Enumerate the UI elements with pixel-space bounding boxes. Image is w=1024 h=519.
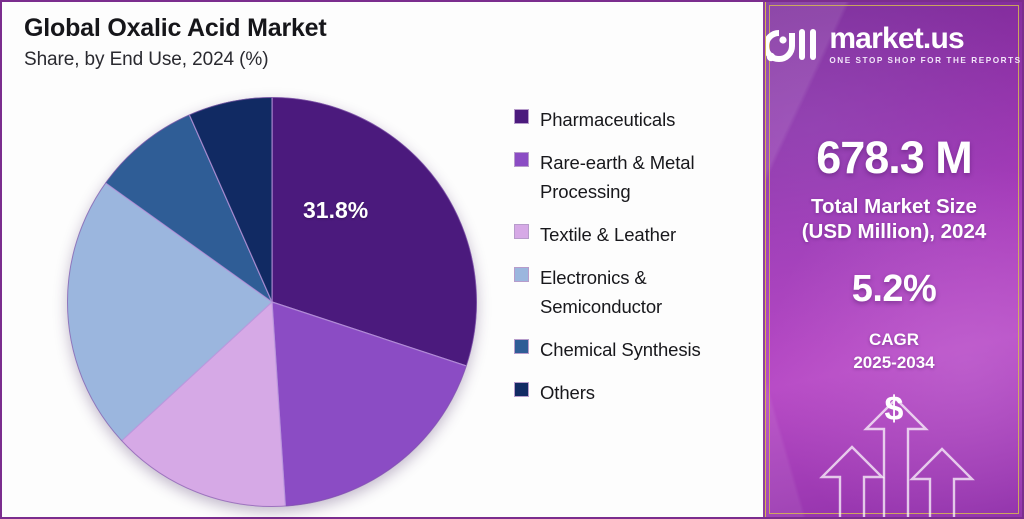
market-size-value: 678.3 M xyxy=(766,132,1022,184)
legend-item[interactable]: Pharmaceuticals xyxy=(514,105,752,134)
chart-panel: Global Oxalic Acid Market Share, by End … xyxy=(2,2,765,517)
legend-item-label: Electronics & Semiconductor xyxy=(540,263,752,321)
legend-item-label: Textile & Leather xyxy=(540,220,676,249)
legend-swatch-icon xyxy=(514,267,529,282)
legend-item-label: Rare-earth & Metal Processing xyxy=(540,148,752,206)
legend-item-label: Chemical Synthesis xyxy=(540,335,701,364)
market-us-logo-icon xyxy=(766,26,822,64)
brand-tagline: ONE STOP SHOP FOR THE REPORTS xyxy=(829,56,1021,65)
cagr-caption-line1: CAGR xyxy=(766,328,1022,351)
brand-logo-text: market.us ONE STOP SHOP FOR THE REPORTS xyxy=(829,24,1021,65)
brand-logo: market.us ONE STOP SHOP FOR THE REPORTS xyxy=(766,24,1022,65)
pie-svg xyxy=(67,97,477,507)
market-size-caption-line1: Total Market Size xyxy=(766,194,1022,219)
legend-swatch-icon xyxy=(514,382,529,397)
market-size-caption-line2: (USD Million), 2024 xyxy=(766,219,1022,244)
pie-chart: 31.8% xyxy=(67,97,477,507)
legend-item-label: Others xyxy=(540,378,595,407)
legend-item[interactable]: Electronics & Semiconductor xyxy=(514,263,752,321)
cagr-value: 5.2% xyxy=(766,268,1022,311)
legend-item[interactable]: Others xyxy=(514,378,752,407)
legend-item[interactable]: Chemical Synthesis xyxy=(514,335,752,364)
chart-legend: PharmaceuticalsRare-earth & Metal Proces… xyxy=(514,105,752,421)
legend-item[interactable]: Rare-earth & Metal Processing xyxy=(514,148,752,206)
page-title: Global Oxalic Acid Market xyxy=(24,14,327,43)
infographic-card: Global Oxalic Acid Market Share, by End … xyxy=(0,0,1024,519)
pie-slices xyxy=(67,97,477,507)
market-size-caption: Total Market Size (USD Million), 2024 xyxy=(766,194,1022,244)
legend-swatch-icon xyxy=(514,152,529,167)
growth-arrows-icon xyxy=(766,367,1022,517)
page-subtitle: Share, by End Use, 2024 (%) xyxy=(24,49,327,71)
chart-titles: Global Oxalic Acid Market Share, by End … xyxy=(24,14,327,71)
legend-swatch-icon xyxy=(514,339,529,354)
legend-item[interactable]: Textile & Leather xyxy=(514,220,752,249)
brand-panel: market.us ONE STOP SHOP FOR THE REPORTS … xyxy=(765,2,1022,517)
pie-slice-data-label: 31.8% xyxy=(303,197,368,224)
brand-name: market.us xyxy=(829,22,964,55)
legend-swatch-icon xyxy=(514,224,529,239)
legend-swatch-icon xyxy=(514,109,529,124)
legend-item-label: Pharmaceuticals xyxy=(540,105,675,134)
